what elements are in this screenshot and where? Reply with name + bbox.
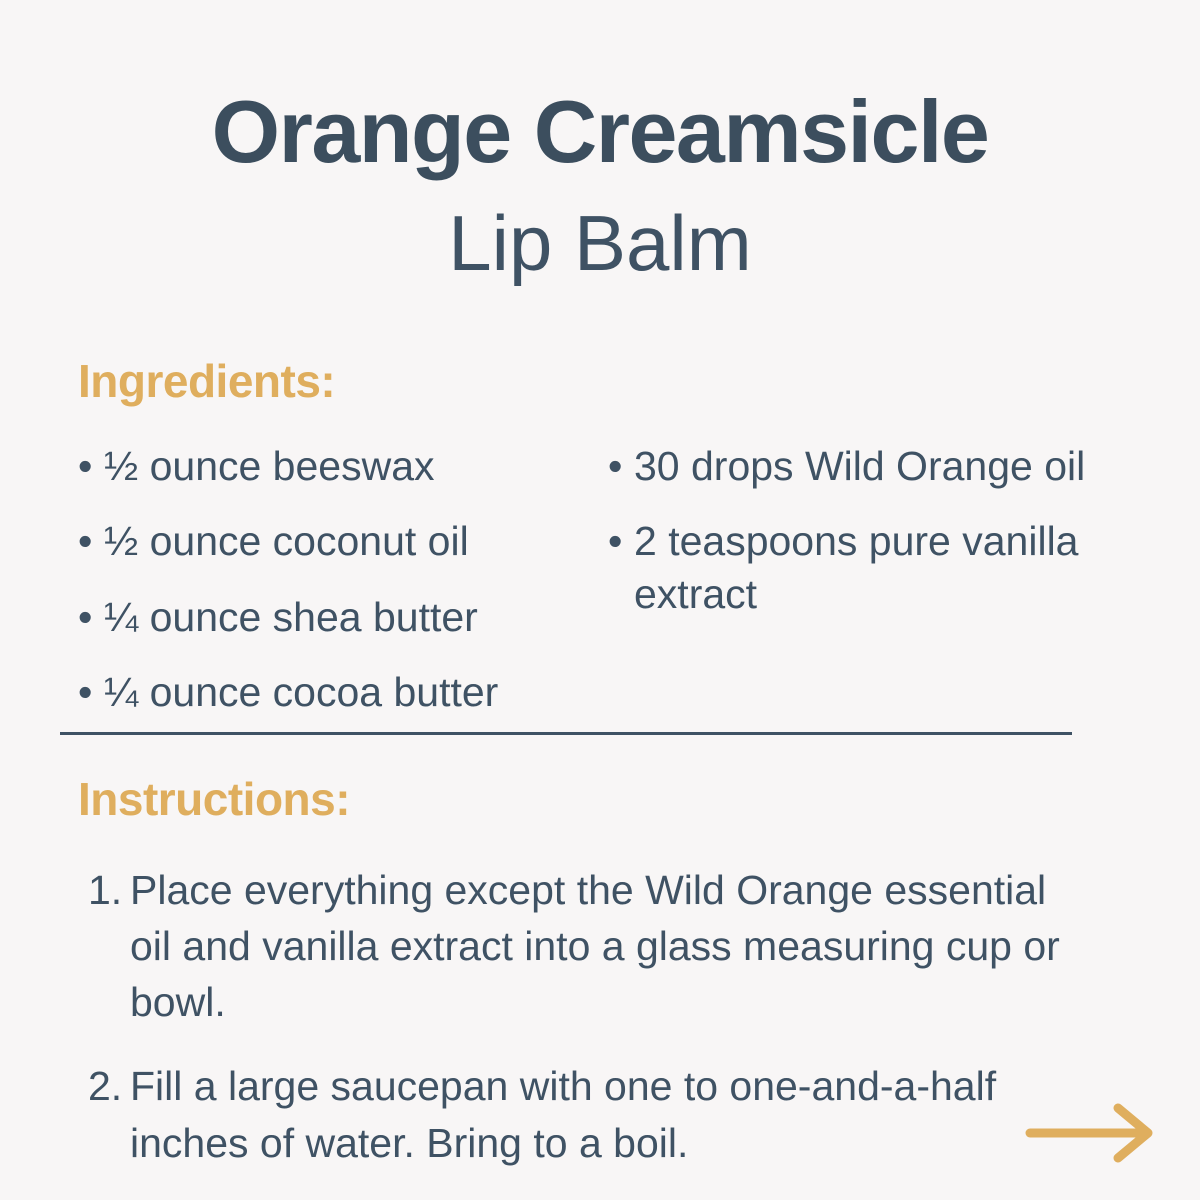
instructions-section: Instructions: 1. Place everything except… bbox=[78, 776, 1078, 1199]
ingredient-text: ¼ ounce cocoa butter bbox=[104, 666, 608, 718]
ingredients-column-left: • ½ ounce beeswax • ½ ounce coconut oil … bbox=[78, 440, 608, 742]
bullet-icon: • bbox=[78, 440, 104, 492]
bullet-icon: • bbox=[608, 515, 634, 567]
step-number: 1. bbox=[78, 862, 130, 918]
ingredient-text: ¼ ounce shea butter bbox=[104, 591, 608, 643]
arrow-right-icon[interactable] bbox=[1022, 1100, 1162, 1166]
ingredient-text: ½ ounce coconut oil bbox=[104, 515, 608, 567]
page-subtitle: Lip Balm bbox=[0, 204, 1200, 282]
bullet-icon: • bbox=[78, 666, 104, 718]
list-item: • ½ ounce coconut oil bbox=[78, 515, 608, 567]
ingredients-column-right: • 30 drops Wild Orange oil • 2 teaspoons… bbox=[608, 440, 1138, 742]
list-item: • 2 teaspoons pure vanilla extract bbox=[608, 515, 1138, 620]
list-item: • ½ ounce beeswax bbox=[78, 440, 608, 492]
ingredient-text: 30 drops Wild Orange oil bbox=[634, 440, 1138, 492]
instructions-heading: Instructions: bbox=[78, 776, 1078, 822]
page-title: Orange Creamsicle bbox=[0, 88, 1200, 176]
list-item: 2. Fill a large saucepan with one to one… bbox=[78, 1058, 1078, 1170]
list-item: 1. Place everything except the Wild Oran… bbox=[78, 862, 1078, 1030]
list-item: • ¼ ounce cocoa butter bbox=[78, 666, 608, 718]
bullet-icon: • bbox=[78, 515, 104, 567]
title-block: Orange Creamsicle Lip Balm bbox=[0, 0, 1200, 282]
ingredients-heading: Ingredients: bbox=[78, 358, 1138, 404]
recipe-card: Orange Creamsicle Lip Balm Ingredients: … bbox=[0, 0, 1200, 1200]
instruction-steps: 1. Place everything except the Wild Oran… bbox=[78, 862, 1078, 1171]
ingredients-columns: • ½ ounce beeswax • ½ ounce coconut oil … bbox=[78, 440, 1138, 742]
step-number: 2. bbox=[78, 1058, 130, 1114]
bullet-icon: • bbox=[78, 591, 104, 643]
step-text: Place everything except the Wild Orange … bbox=[130, 862, 1078, 1030]
ingredients-section: Ingredients: • ½ ounce beeswax • ½ ounce… bbox=[78, 358, 1138, 742]
list-item: • ¼ ounce shea butter bbox=[78, 591, 608, 643]
list-item: • 30 drops Wild Orange oil bbox=[608, 440, 1138, 492]
bullet-icon: • bbox=[608, 440, 634, 492]
ingredient-text: ½ ounce beeswax bbox=[104, 440, 608, 492]
section-divider bbox=[60, 732, 1072, 735]
ingredient-text: 2 teaspoons pure vanilla extract bbox=[634, 515, 1138, 620]
step-text: Fill a large saucepan with one to one-an… bbox=[130, 1058, 1078, 1170]
